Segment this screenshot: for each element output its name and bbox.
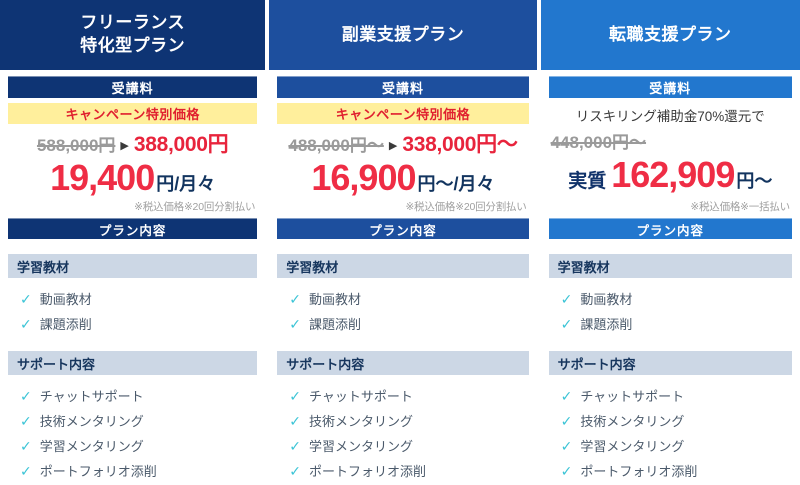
list-item-label: 技術メンタリング [580,411,684,430]
original-price: 488,000円〜 [288,131,383,156]
list-item-label: 動画教材 [309,289,361,308]
list-item-label: ポートフォリオ添削 [309,461,426,480]
plan-content-bar: プラン内容 [549,218,792,239]
list-item: ✓ 動画教材 [277,286,528,311]
campaign-banner: キャンペーン特別価格 [277,103,528,124]
list-item: ✓ ポートフォリオ添削 [8,458,257,483]
support-list: ✓ チャットサポート ✓ 技術メンタリング ✓ 学習メンタリング ✓ ポートフォ… [277,383,528,483]
list-item: ✓ 学習メンタリング [8,433,257,458]
list-item-label: 課題添削 [309,314,361,333]
fee-bar: 受講料 [549,76,792,98]
discounted-price: 388,000円 [134,128,229,158]
list-item-label: 学習メンタリング [40,436,144,455]
list-item-label: チャットサポート [40,386,144,405]
effective-price-unit: 円〜 [736,167,772,193]
check-icon: ✓ [561,292,573,306]
list-item: ✓ 動画教材 [8,286,257,311]
section-header-support: サポート内容 [8,351,257,375]
tax-note: ※税込価格※20回分割払い [134,199,255,214]
plan-content: プラン内容 学習教材 ✓ 動画教材 ✓ 課題添削 サポート内容 ✓ チャットサポ… [269,218,536,485]
plan-header-sidejob: 副業支援プラン [269,0,536,70]
section-header-materials: 学習教材 [549,254,792,278]
monthly-price-number: 16,900 [311,160,415,196]
check-icon: ✓ [289,414,301,428]
plan-column-sidejob: 副業支援プラン 受講料 キャンペーン特別価格 488,000円〜 ▶ 338,0… [269,0,536,485]
list-item: ✓ ポートフォリオ添削 [549,458,792,483]
plan-header-freelance: フリーランス 特化型プラン [0,0,265,70]
list-item: ✓ 技術メンタリング [549,408,792,433]
list-item: ✓ 課題添削 [549,311,792,336]
plan-title-line2: 特化型プラン [80,35,185,58]
arrow-right-icon: ▶ [389,139,397,152]
support-list: ✓ チャットサポート ✓ 技術メンタリング ✓ 学習メンタリング ✓ ポートフォ… [549,383,792,483]
monthly-price-unit: 円〜/月々 [418,170,495,196]
price-comparison-row: 588,000円 ▶ 388,000円 [8,128,257,158]
plan-header-career-change: 転職支援プラン [541,0,800,70]
monthly-price-number: 19,400 [50,160,154,196]
plan-content: プラン内容 学習教材 ✓ 動画教材 ✓ 課題添削 サポート内容 ✓ チャットサポ… [0,218,265,485]
materials-list: ✓ 動画教材 ✓ 課題添削 [277,286,528,336]
support-list: ✓ チャットサポート ✓ 技術メンタリング ✓ 学習メンタリング ✓ ポートフォ… [8,383,257,483]
pricing-comparison-table: フリーランス 特化型プラン 受講料 キャンペーン特別価格 588,000円 ▶ … [0,0,800,485]
list-item-label: ポートフォリオ添削 [580,461,697,480]
check-icon: ✓ [561,317,573,331]
check-icon: ✓ [289,464,301,478]
list-item: ✓ ポートフォリオ添削 [277,458,528,483]
subsidy-note: リスキリング補助金70%還元で [549,105,792,125]
list-item-label: 技術メンタリング [309,411,413,430]
list-item: ✓ 技術メンタリング [277,408,528,433]
price-comparison-row: 488,000円〜 ▶ 338,000円〜 [277,128,528,158]
list-item: ✓ 課題添削 [277,311,528,336]
original-price: 448,000円〜 [549,128,792,153]
section-header-support: サポート内容 [549,351,792,375]
section-header-support: サポート内容 [277,351,528,375]
list-item: ✓ 技術メンタリング [8,408,257,433]
check-icon: ✓ [561,414,573,428]
section-header-materials: 学習教材 [277,254,528,278]
check-icon: ✓ [289,317,301,331]
price-block: 受講料 キャンペーン特別価格 488,000円〜 ▶ 338,000円〜 16,… [269,70,536,218]
monthly-price: 16,900 円〜/月々 [277,160,528,196]
plan-content-bar: プラン内容 [8,218,257,239]
materials-list: ✓ 動画教材 ✓ 課題添削 [549,286,792,336]
plan-column-career-change: 転職支援プラン 受講料 リスキリング補助金70%還元で 448,000円〜 実質… [541,0,800,485]
list-item-label: 課題添削 [580,314,632,333]
check-icon: ✓ [20,464,32,478]
effective-price: 実質 162,909 円〜 [549,157,792,193]
list-item-label: 学習メンタリング [309,436,413,455]
plan-title-line1: 副業支援プラン [342,24,465,47]
check-icon: ✓ [20,414,32,428]
list-item-label: 技術メンタリング [40,411,144,430]
effective-price-label: 実質 [568,166,606,193]
check-icon: ✓ [561,439,573,453]
list-item-label: 学習メンタリング [580,436,684,455]
check-icon: ✓ [20,317,32,331]
arrow-right-icon: ▶ [120,139,128,152]
check-icon: ✓ [561,389,573,403]
check-icon: ✓ [20,292,32,306]
plan-title-line1: フリーランス [80,12,185,35]
list-item: ✓ チャットサポート [8,383,257,408]
monthly-price-unit: 円/月々 [156,170,215,196]
check-icon: ✓ [20,389,32,403]
discounted-price: 338,000円〜 [402,128,517,158]
list-item-label: 課題添削 [40,314,92,333]
plan-content: プラン内容 学習教材 ✓ 動画教材 ✓ 課題添削 サポート内容 ✓ チャットサポ… [541,218,800,485]
check-icon: ✓ [289,439,301,453]
fee-bar: 受講料 [8,76,257,98]
plan-content-bar: プラン内容 [277,218,528,239]
campaign-banner: キャンペーン特別価格 [8,103,257,124]
check-icon: ✓ [289,292,301,306]
list-item: ✓ チャットサポート [277,383,528,408]
list-item: ✓ 課題添削 [8,311,257,336]
plan-title-line1: 転職支援プラン [609,24,732,47]
list-item: ✓ 動画教材 [549,286,792,311]
check-icon: ✓ [561,464,573,478]
list-item: ✓ 学習メンタリング [549,433,792,458]
monthly-price: 19,400 円/月々 [8,160,257,196]
list-item-label: チャットサポート [580,386,684,405]
original-price: 588,000円 [37,131,115,156]
fee-bar: 受講料 [277,76,528,98]
materials-list: ✓ 動画教材 ✓ 課題添削 [8,286,257,336]
tax-note: ※税込価格※20回分割払い [405,199,526,214]
tax-note: ※税込価格※一括払い [690,199,790,214]
effective-price-number: 162,909 [611,157,734,193]
check-icon: ✓ [289,389,301,403]
list-item-label: チャットサポート [309,386,413,405]
list-item-label: ポートフォリオ添削 [40,461,157,480]
plan-column-freelance: フリーランス 特化型プラン 受講料 キャンペーン特別価格 588,000円 ▶ … [0,0,265,485]
price-block: 受講料 キャンペーン特別価格 588,000円 ▶ 388,000円 19,40… [0,70,265,218]
check-icon: ✓ [20,439,32,453]
list-item-label: 動画教材 [40,289,92,308]
list-item-label: 動画教材 [580,289,632,308]
section-header-materials: 学習教材 [8,254,257,278]
list-item: ✓ チャットサポート [549,383,792,408]
price-block: 受講料 リスキリング補助金70%還元で 448,000円〜 実質 162,909… [541,70,800,218]
list-item: ✓ 学習メンタリング [277,433,528,458]
